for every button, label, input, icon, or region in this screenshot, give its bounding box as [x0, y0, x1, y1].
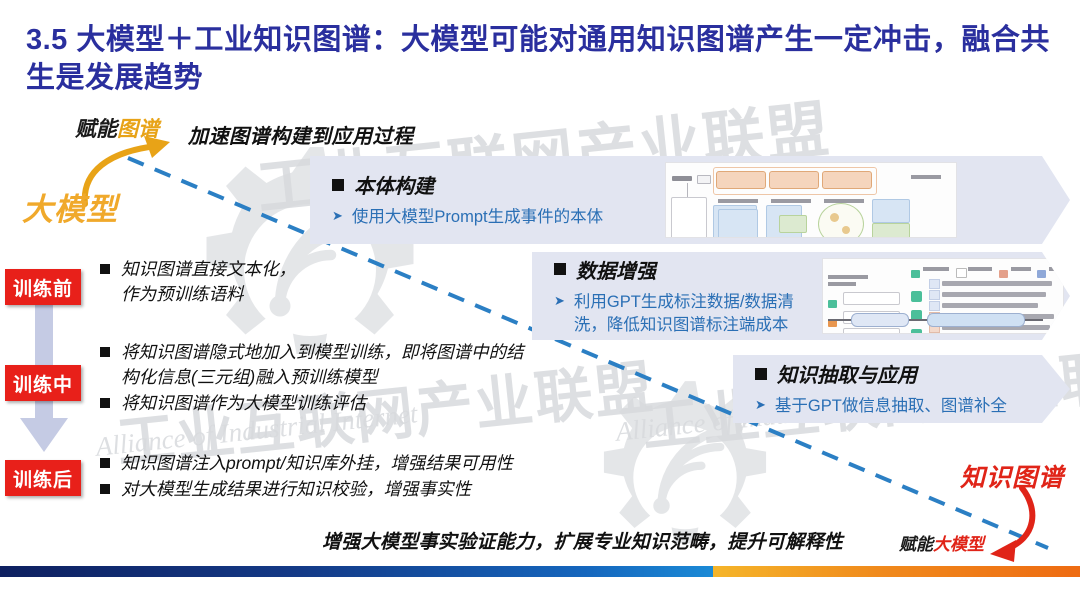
list-item: 将知识图谱隐式地加入到模型训练，即将图谱中的结构化信息(三元组)融入预训练模型 — [100, 340, 540, 390]
thumbnail-ontology-diagram — [665, 162, 957, 238]
arrow-box-text: 本体构建 ➤ 使用大模型Prompt生成事件的本体 — [310, 170, 603, 229]
bullet-block-in-training: 将知识图谱隐式地加入到模型训练，即将图谱中的结构化信息(三元组)融入预训练模型 … — [100, 340, 540, 417]
chevron-right-icon: ➤ — [755, 395, 766, 415]
bottom-enable-target: 大模型 — [933, 535, 984, 554]
arrow-box-heading: 知识抽取与应用 — [777, 359, 917, 388]
arrow-box-heading-row: 数据增强 — [554, 255, 809, 284]
square-bullet-icon — [554, 263, 566, 275]
arrow-box-heading: 数据增强 — [576, 255, 656, 284]
arrow-box-detail: 利用GPT生成标注数据/数据清洗，降低知识图谱标注端成本 — [574, 291, 809, 338]
arrow-box-heading-row: 知识抽取与应用 — [755, 359, 1007, 388]
chevron-right-icon: ➤ — [554, 291, 565, 311]
list-item-text: 知识图谱直接文本化， 作为预训练语料 — [121, 257, 296, 307]
stage-badge-in-training[interactable]: 训练中 — [5, 365, 81, 401]
slide-canvas: 工业互联网产业联盟 工业互联网产业联盟 Alliance of Industri… — [0, 0, 1080, 608]
arrow-box-detail: 基于GPT做信息抽取、图谱补全 — [775, 395, 1007, 418]
square-bullet-icon — [332, 179, 344, 191]
arrow-box-heading-row: 本体构建 — [332, 170, 603, 199]
section-headline: 加速图谱构建到应用过程 — [188, 120, 414, 149]
bottom-enable-prefix: 赋能 — [899, 535, 933, 554]
square-bullet-icon — [100, 347, 110, 357]
list-item-text: 对大模型生成结果进行知识校验，增强事实性 — [121, 477, 471, 502]
square-bullet-icon — [100, 398, 110, 408]
footer-bar-blue-segment — [0, 566, 713, 577]
square-bullet-icon — [100, 264, 110, 274]
arrow-box-knowledge-extraction[interactable]: 知识抽取与应用 ➤ 基于GPT做信息抽取、图谱补全 — [733, 355, 1070, 423]
list-item-text: 知识图谱注入prompt/知识库外挂，增强结果可用性 — [121, 451, 513, 476]
arrow-box-detail-row: ➤ 利用GPT生成标注数据/数据清洗，降低知识图谱标注端成本 — [554, 291, 809, 338]
arrow-box-data-augmentation[interactable]: 数据增强 ➤ 利用GPT生成标注数据/数据清洗，降低知识图谱标注端成本 — [532, 252, 1070, 340]
square-bullet-icon — [100, 484, 110, 494]
list-item: 对大模型生成结果进行知识校验，增强事实性 — [100, 477, 570, 502]
list-item-text: 将知识图谱隐式地加入到模型训练，即将图谱中的结构化信息(三元组)融入预训练模型 — [121, 340, 540, 390]
large-model-label: 大模型 — [22, 184, 118, 229]
bottom-enable-annotation: 赋能大模型 — [899, 530, 984, 555]
stage-badge-post-training[interactable]: 训练后 — [5, 460, 81, 496]
arrow-box-text: 知识抽取与应用 ➤ 基于GPT做信息抽取、图谱补全 — [733, 359, 1007, 418]
thumbnail-annotation-legend — [822, 258, 1064, 334]
list-item: 知识图谱注入prompt/知识库外挂，增强结果可用性 — [100, 451, 570, 476]
bullet-block-post-training: 知识图谱注入prompt/知识库外挂，增强结果可用性 对大模型生成结果进行知识校… — [100, 451, 570, 503]
arrow-box-detail-row: ➤ 使用大模型Prompt生成事件的本体 — [332, 206, 603, 229]
footer-gradient-bar — [0, 566, 1080, 577]
bullet-block-pre-training: 知识图谱直接文本化， 作为预训练语料 — [100, 257, 430, 308]
bottom-strapline: 增强大模型事实验证能力，扩展专业知识范畴，提升可解释性 — [322, 527, 843, 554]
arrow-box-heading: 本体构建 — [354, 170, 434, 199]
arrow-box-ontology[interactable]: 本体构建 ➤ 使用大模型Prompt生成事件的本体 — [310, 156, 1070, 244]
page-title: 3.5 大模型＋工业知识图谱：大模型可能对通用知识图谱产生一定冲击，融合共生是发… — [26, 22, 1066, 97]
list-item: 知识图谱直接文本化， 作为预训练语料 — [100, 257, 430, 307]
square-bullet-icon — [100, 458, 110, 468]
square-bullet-icon — [755, 368, 767, 380]
list-item: 将知识图谱作为大模型训练评估 — [100, 391, 540, 416]
arrow-box-text: 数据增强 ➤ 利用GPT生成标注数据/数据清洗，降低知识图谱标注端成本 — [532, 255, 809, 338]
stage-badge-pre-training[interactable]: 训练前 — [5, 269, 81, 305]
chevron-right-icon: ➤ — [332, 206, 343, 226]
footer-bar-orange-segment — [713, 566, 1080, 577]
arrow-box-detail: 使用大模型Prompt生成事件的本体 — [352, 206, 603, 229]
arrow-box-detail-row: ➤ 基于GPT做信息抽取、图谱补全 — [755, 395, 1007, 418]
list-item-text: 将知识图谱作为大模型训练评估 — [121, 391, 366, 416]
